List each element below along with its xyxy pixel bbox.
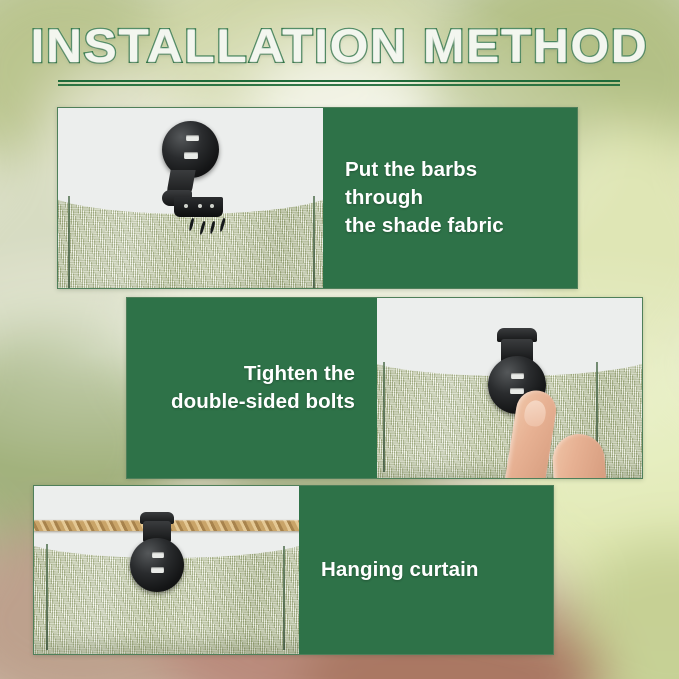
clip-disc-icon bbox=[130, 538, 184, 592]
step-3-text-pane: Hanging curtain bbox=[299, 486, 553, 654]
step-1-caption-line-2: the shade fabric bbox=[345, 214, 504, 237]
step-2-caption-line-2: double-sided bolts bbox=[171, 390, 355, 413]
step-3-photo bbox=[34, 486, 299, 654]
step-2-photo bbox=[377, 298, 642, 478]
step-card-3: Hanging curtain bbox=[33, 485, 554, 655]
step-1-text-pane: Put the barbs through the shade fabric bbox=[323, 108, 577, 288]
step-1-caption-line-1: Put the barbs through bbox=[345, 158, 477, 209]
step-3-caption: Hanging curtain bbox=[321, 556, 479, 584]
step-3-caption-line-1: Hanging curtain bbox=[321, 558, 479, 581]
step-2-text-pane: Tighten the double-sided bolts bbox=[127, 298, 377, 478]
step-2-caption-line-1: Tighten the bbox=[244, 362, 355, 385]
step-card-1: Put the barbs through the shade fabric bbox=[57, 107, 578, 289]
title-divider bbox=[58, 80, 620, 86]
page-title: INSTALLATION METHOD bbox=[31, 22, 649, 71]
step-1-caption: Put the barbs through the shade fabric bbox=[345, 156, 557, 240]
step-2-caption: Tighten the double-sided bolts bbox=[171, 360, 355, 416]
step-1-photo bbox=[58, 108, 323, 288]
step-card-2: Tighten the double-sided bolts bbox=[126, 297, 643, 479]
page-title-container: INSTALLATION METHOD bbox=[0, 22, 679, 71]
installation-method-poster: INSTALLATION METHOD bbox=[0, 0, 679, 679]
